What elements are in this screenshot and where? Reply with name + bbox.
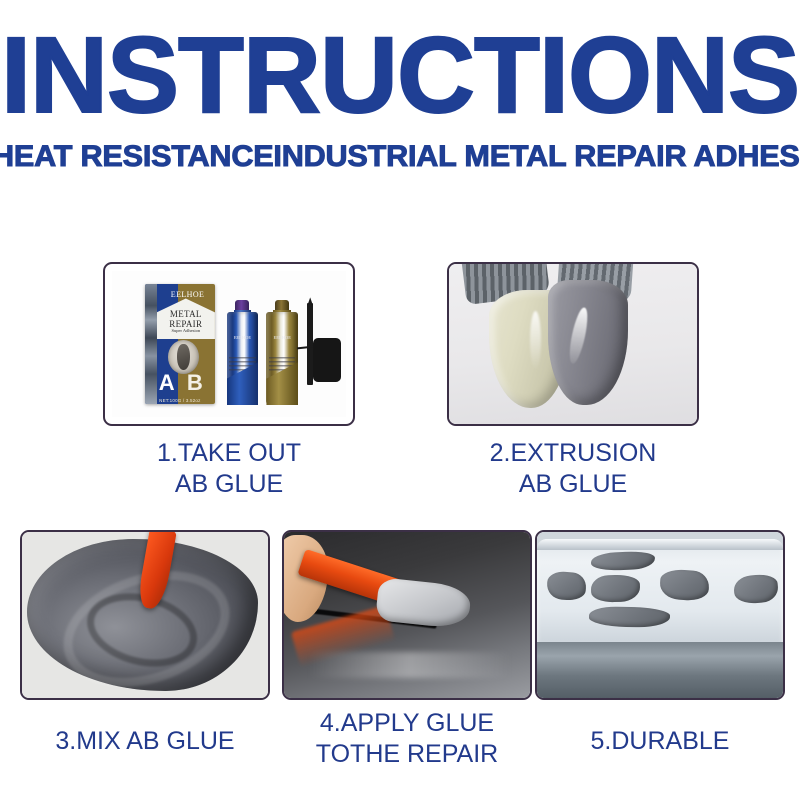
tube-b-body: EELHOE B xyxy=(266,312,298,406)
step-1-caption: 1.TAKE OUT AB GLUE xyxy=(103,438,355,499)
glue-tube-b: EELHOE B xyxy=(266,300,298,405)
metal-panel-front xyxy=(537,642,783,698)
step-2-caption: 2.EXTRUSION AB GLUE xyxy=(447,438,699,499)
step-4-image-frame xyxy=(282,530,532,700)
box-product-title: METAL REPAIR Super Adhesion xyxy=(158,310,213,334)
step-1-image-frame: EELHOE METAL REPAIR Super Adhesion A B N… xyxy=(103,262,355,426)
tube-a-body: EELHOE A xyxy=(227,312,259,406)
page-title: INSTRUCTIONS xyxy=(0,24,800,126)
surface-sheen xyxy=(309,652,511,679)
tube-a-text-block xyxy=(229,357,256,372)
box-tagline: Super Adhesion xyxy=(158,329,213,334)
header: INSTRUCTIONS HEAT RESISTANCEINDUSTRIAL M… xyxy=(0,0,800,174)
mixing-pad xyxy=(313,338,341,382)
step-5-image-frame xyxy=(535,530,785,700)
step-3-image-frame xyxy=(20,530,270,700)
page-subtitle: HEAT RESISTANCEINDUSTRIAL METAL REPAIR A… xyxy=(0,140,800,174)
tube-a-label: A xyxy=(227,373,259,391)
mixing-photo xyxy=(22,532,268,698)
box-side-strip xyxy=(145,284,157,404)
step-4-caption: 4.APPLY GLUE TOTHE REPAIR xyxy=(282,708,532,769)
durable-result-photo xyxy=(537,532,783,698)
step-3-caption: 3.MIX AB GLUE xyxy=(20,726,270,757)
applying-photo xyxy=(284,532,530,698)
box-repair-illustration xyxy=(168,340,199,374)
product-kit-photo: EELHOE METAL REPAIR Super Adhesion A B N… xyxy=(112,271,346,417)
applicator-stick xyxy=(307,303,313,385)
tube-b-label: B xyxy=(266,373,298,391)
tube-a-brand: EELHOE xyxy=(227,335,259,340)
box-brand-label: EELHOE xyxy=(160,290,215,299)
box-label-a: A xyxy=(159,372,175,394)
product-box: EELHOE METAL REPAIR Super Adhesion A B N… xyxy=(145,284,215,404)
step-2-image-frame xyxy=(447,262,699,426)
tube-b-text-block xyxy=(269,357,296,372)
box-net-weight: NET:100G / 3.52oz xyxy=(145,398,215,403)
box-label-b: B xyxy=(187,372,203,394)
putty-patch xyxy=(588,606,670,627)
step-5-caption: 5.DURABLE xyxy=(535,726,785,757)
glue-tube-a: EELHOE A xyxy=(227,300,259,405)
tube-b-brand: EELHOE xyxy=(266,335,298,340)
extrusion-photo xyxy=(449,264,697,424)
metal-panel-lip xyxy=(537,539,783,551)
